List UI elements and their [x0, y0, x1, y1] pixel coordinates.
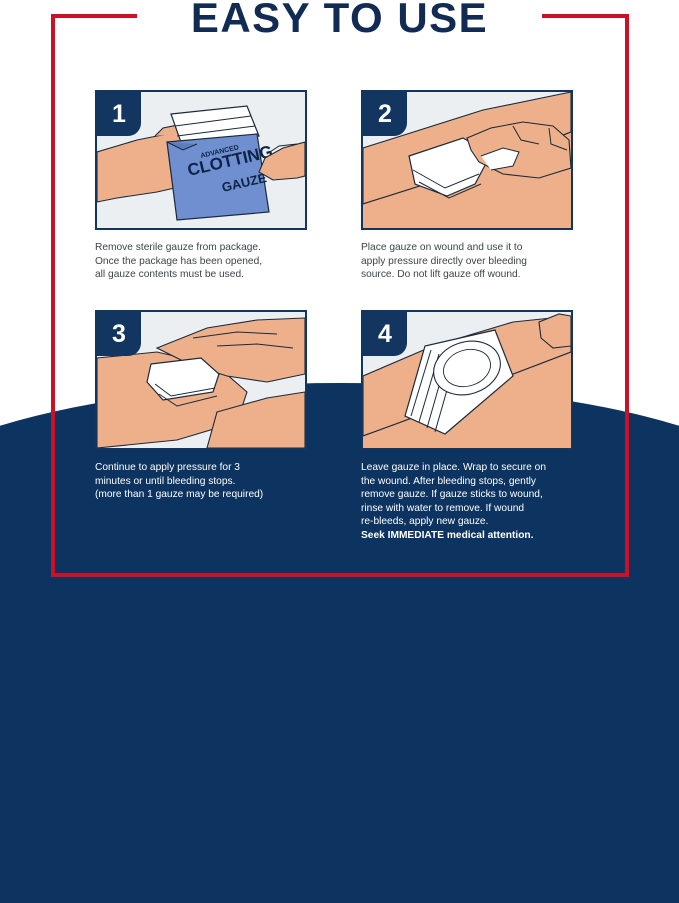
page-title: EASY TO USE [0, 0, 679, 42]
step-4-number-badge: 4 [363, 312, 407, 356]
steps-grid: ADVANCED CLOTTING GAUZE 1 Remove sterile… [0, 0, 679, 635]
step-4-illustration-panel: 4 [361, 310, 573, 450]
step-1-caption: Remove sterile gauze from package. Once … [95, 241, 313, 282]
step-4-caption: Leave gauze in place. Wrap to secure on … [361, 461, 579, 543]
caption-line: Once the package has been opened, [95, 255, 313, 269]
step-3-caption: Continue to apply pressure for 3 minutes… [95, 461, 313, 502]
step-2: 2 Place gauze on wound and use it to app… [361, 90, 573, 282]
step-2-caption: Place gauze on wound and use it to apply… [361, 241, 579, 282]
caption-line: Continue to apply pressure for 3 [95, 461, 313, 475]
caption-line: minutes or until bleeding stops. [95, 475, 313, 489]
step-2-illustration-panel: 2 [361, 90, 573, 230]
step-3: 3 Continue to apply pressure for 3 minut… [95, 310, 307, 502]
step-1-illustration-panel: ADVANCED CLOTTING GAUZE 1 [95, 90, 307, 230]
red-frame-right-segment [625, 14, 629, 577]
step-1-number-badge: 1 [97, 92, 141, 136]
caption-line: the wound. After bleeding stops, gently [361, 475, 579, 489]
caption-line: Remove sterile gauze from package. [95, 241, 313, 255]
caption-line: rinse with water to remove. If wound [361, 502, 579, 516]
caption-line: Place gauze on wound and use it to [361, 241, 579, 255]
step-1: ADVANCED CLOTTING GAUZE 1 Remove sterile… [95, 90, 307, 282]
caption-line: re-bleeds, apply new gauze. [361, 515, 579, 529]
step-4: 4 Leave gauze in place. Wrap to secure o… [361, 310, 573, 543]
caption-line: source. Do not lift gauze off wound. [361, 268, 579, 282]
caption-line: Leave gauze in place. Wrap to secure on [361, 461, 579, 475]
step-2-number-badge: 2 [363, 92, 407, 136]
caption-line: remove gauze. If gauze sticks to wound, [361, 488, 579, 502]
caption-line: all gauze contents must be used. [95, 268, 313, 282]
caption-line: (more than 1 gauze may be required) [95, 488, 313, 502]
step-3-illustration-panel: 3 [95, 310, 307, 450]
step-3-number-badge: 3 [97, 312, 141, 356]
caption-line-emphasis: Seek IMMEDIATE medical attention. [361, 529, 579, 543]
caption-line: apply pressure directly over bleeding [361, 255, 579, 269]
red-frame-left-segment [51, 14, 55, 577]
red-frame-bottom-segment [51, 573, 629, 577]
